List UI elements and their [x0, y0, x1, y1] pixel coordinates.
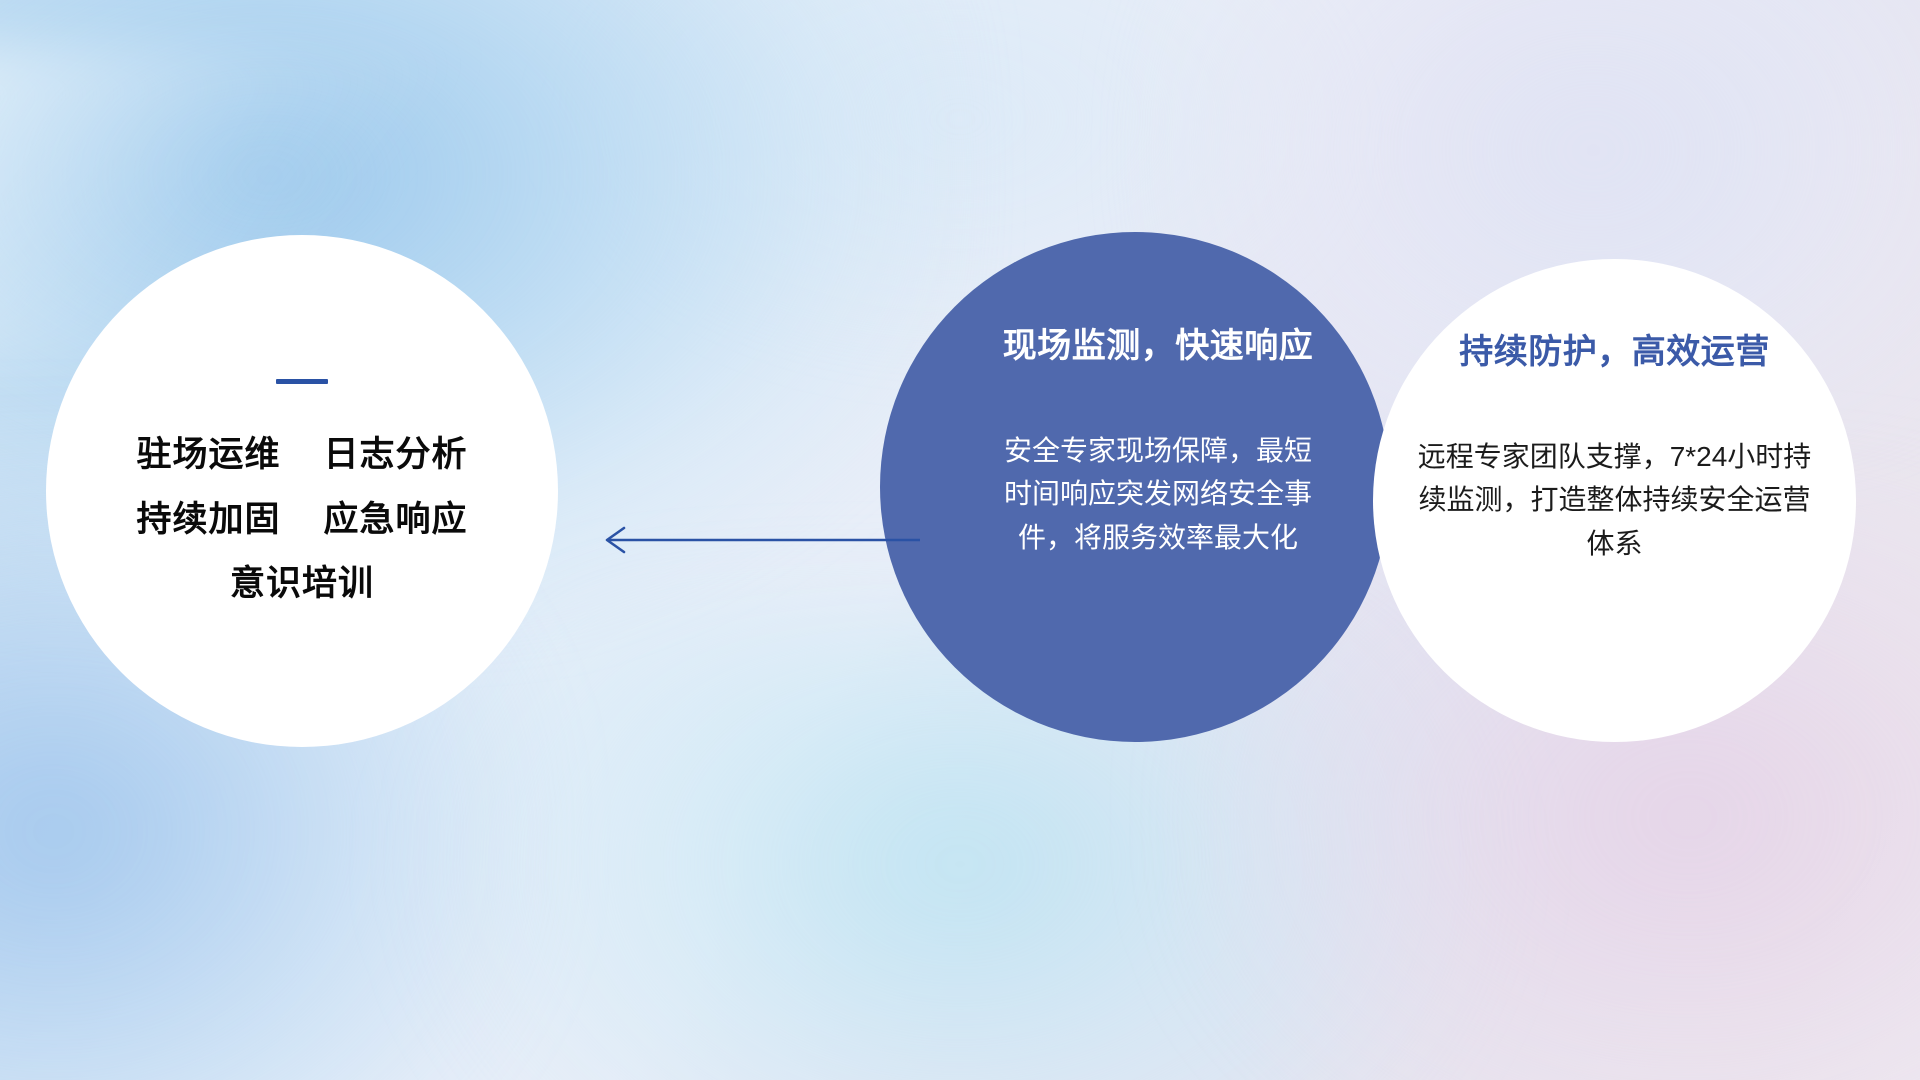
slide-canvas: 驻场运维 日志分析 持续加固 应急响应 意识培训 现场监测，快速响应 安全专家现…: [0, 0, 1920, 1080]
capability-line-1: 驻场运维 日志分析: [137, 436, 468, 475]
capability-line-2: 持续加固 应急响应: [137, 501, 468, 540]
capability-list: 驻场运维 日志分析 持续加固 应急响应 意识培训: [137, 436, 468, 604]
onsite-monitoring-title: 现场监测，快速响应: [1003, 318, 1314, 367]
onsite-monitoring-body: 安全专家现场保障，最短时间响应突发网络安全事件，将服务效率最大化: [1003, 429, 1313, 559]
onsite-monitoring-circle: 现场监测，快速响应 安全专家现场保障，最短时间响应突发网络安全事件，将服务效率最…: [880, 232, 1390, 742]
left-pointing-arrow: [590, 520, 920, 560]
continuous-protection-title: 持续防护，高效运营: [1459, 324, 1770, 373]
continuous-protection-circle: 持续防护，高效运营 远程专家团队支撑，7*24小时持续监测，打造整体持续安全运营…: [1373, 259, 1856, 742]
accent-dash-divider: [276, 379, 328, 384]
capability-line-3: 意识培训: [230, 565, 374, 604]
continuous-protection-body: 远程专家团队支撑，7*24小时持续监测，打造整体持续安全运营体系: [1410, 435, 1820, 565]
capability-circle: 驻场运维 日志分析 持续加固 应急响应 意识培训: [46, 235, 558, 747]
